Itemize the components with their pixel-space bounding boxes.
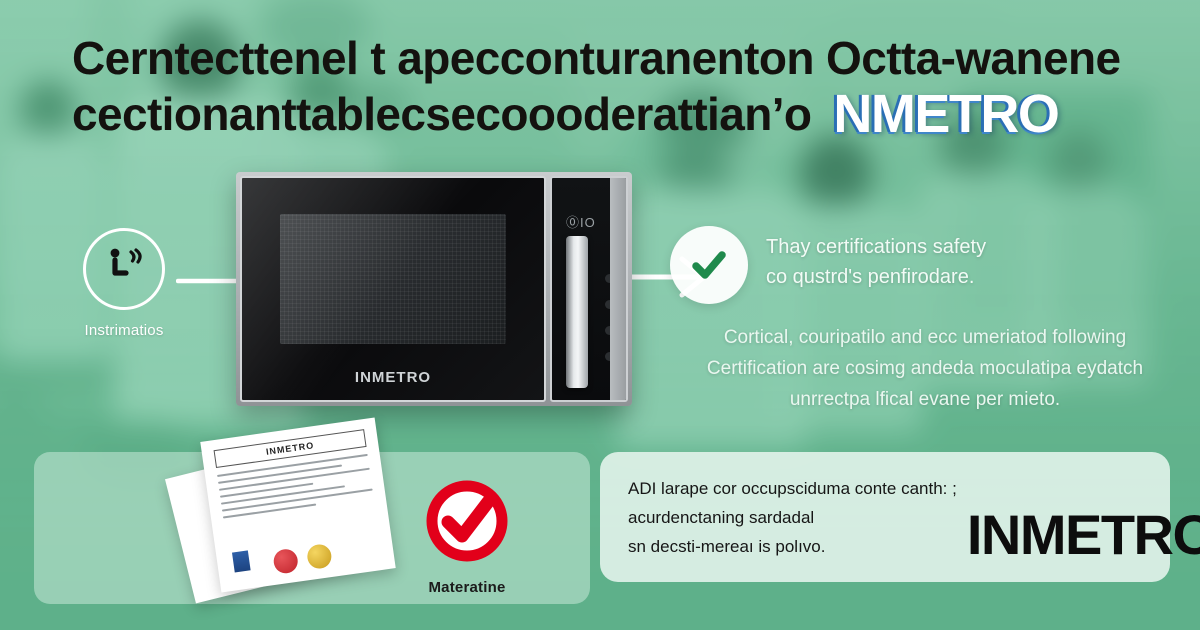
instructions-badge: Instrimatios — [78, 228, 170, 339]
badge-ring — [83, 228, 165, 310]
red-circle-check-icon — [424, 478, 510, 564]
headline-line-1: Cerntecttenel t apecconturanenton Octta-… — [72, 30, 1162, 86]
certificate-title: INMETRO — [214, 429, 367, 468]
conformity-mark-label: Materatine — [416, 579, 518, 596]
certification-heading-line-1: Thay certifications safety — [766, 232, 986, 262]
check-icon — [686, 242, 732, 288]
certificate-documents: INMETRO — [172, 415, 402, 595]
microwave-door: INMETRO — [240, 176, 546, 402]
certification-headline-row: Thay certifications safety co qustrd's p… — [670, 226, 1180, 304]
certification-body-line-3: unrrectpa lfical evane per mieto. — [670, 384, 1180, 415]
certification-heading: Thay certifications safety co qustrd's p… — [766, 226, 986, 292]
inmetro-summary-panel: ADI larape cor occupsciduma conte canth:… — [600, 452, 1170, 582]
microwave-side-panel — [610, 178, 626, 400]
person-speaking-icon — [101, 246, 147, 292]
microwave-window — [280, 214, 506, 344]
poster-canvas: Cerntecttenel t apecconturanenton Octta-… — [0, 0, 1200, 630]
certification-body: Cortical, couripatilo and ecc umeriatod … — [670, 322, 1180, 415]
microwave-oven: INMETRO ⓪IО — [236, 172, 632, 406]
inmetro-summary-line-3: sn decsti-mereaı is polıvo. — [628, 532, 957, 561]
certification-copy-block: Thay certifications safety co qustrd's p… — [670, 226, 1180, 415]
conformity-mark-block: Materatine — [416, 478, 518, 596]
inmetro-summary-text-group: ADI larape cor occupsciduma conte canth:… — [628, 474, 957, 561]
microwave-control-panel: ⓪IО — [550, 176, 628, 402]
green-check-circle-icon — [670, 226, 748, 304]
inmetro-summary-line-2: acurdenctaning sardadal — [628, 503, 957, 532]
certificate-document-front: INMETRO — [200, 417, 395, 592]
certificate-seals — [272, 543, 333, 575]
microwave-brand-label: INMETRO — [242, 369, 544, 386]
certificate-flag-stamp — [232, 550, 251, 572]
headline-line-2: cectionanttablecsecoooderattianʼo — [72, 86, 811, 142]
gold-seal-icon — [306, 543, 333, 570]
microwave-handle[interactable] — [566, 236, 588, 388]
certification-heading-line-2: co qustrd's penfirodare. — [766, 262, 986, 292]
certification-body-line-2: Certification are cosimg andeda moculati… — [670, 353, 1180, 384]
microwave-display: ⓪IО — [566, 212, 596, 231]
inmetro-wordmark-header: NMETRO — [833, 86, 1058, 142]
certification-body-line-1: Cortical, couripatilo and ecc umeriatod … — [670, 322, 1180, 353]
headline-line-2-row: cectionanttablecsecoooderattianʼo NMETRO — [72, 86, 1162, 142]
headline-block: Cerntecttenel t apecconturanenton Octta-… — [72, 30, 1162, 142]
red-seal-icon — [272, 548, 299, 575]
inmetro-wordmark-footer: INMETRO — [967, 506, 1200, 568]
inmetro-summary-line-1: ADI larape cor occupsciduma conte canth:… — [628, 474, 957, 503]
badge-label: Instrimatios — [78, 322, 170, 339]
certificate-text-line — [223, 503, 317, 518]
